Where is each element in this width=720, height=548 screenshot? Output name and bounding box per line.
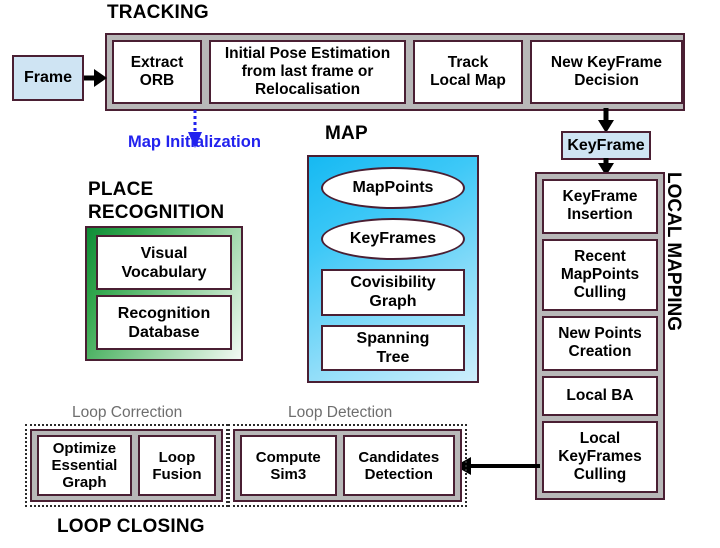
place-recognition-item-visual-vocabulary[interactable]: Visual Vocabulary bbox=[96, 235, 232, 290]
loop-closing-step-compute-sim3[interactable]: Compute Sim3 bbox=[240, 435, 337, 496]
map-section-title: MAP bbox=[325, 122, 368, 145]
frame-input-label: Frame bbox=[24, 69, 72, 87]
loop-closing-step-optimize-essential-graph[interactable]: Optimize Essential Graph bbox=[37, 435, 132, 496]
place-recognition-module: Visual Vocabulary Recognition Database bbox=[85, 226, 243, 361]
local-mapping-section-title: LOCAL MAPPING bbox=[660, 172, 684, 392]
arrow-local-mapping-to-loop-closing-icon bbox=[455, 455, 540, 477]
local-mapping-step-new-points-creation[interactable]: New Points Creation bbox=[542, 316, 658, 371]
place-recognition-section-title: PLACE RECOGNITION bbox=[88, 178, 224, 224]
tracking-module: Extract ORB Initial Pose Estimation from… bbox=[105, 33, 685, 111]
frame-input-box: Frame bbox=[12, 55, 84, 101]
local-mapping-step-keyframe-insertion[interactable]: KeyFrame Insertion bbox=[542, 179, 658, 234]
keyframe-data-label: KeyFrame bbox=[567, 137, 644, 155]
local-mapping-step-recent-mappoints-culling[interactable]: Recent MapPoints Culling bbox=[542, 239, 658, 312]
orb-slam-architecture-diagram: TRACKING Frame Extract ORB Initial Pose … bbox=[0, 0, 720, 548]
arrow-frame-to-tracking-icon bbox=[84, 66, 108, 90]
place-recognition-item-recognition-database[interactable]: Recognition Database bbox=[96, 295, 232, 350]
tracking-step-track-local-map[interactable]: Track Local Map bbox=[413, 40, 523, 104]
keyframe-data-box: KeyFrame bbox=[561, 131, 651, 160]
tracking-step-extract-orb[interactable]: Extract ORB bbox=[112, 40, 202, 104]
local-mapping-module: KeyFrame Insertion Recent MapPoints Cull… bbox=[535, 172, 665, 500]
local-mapping-step-local-keyframes-culling[interactable]: Local KeyFrames Culling bbox=[542, 421, 658, 494]
map-entity-spanning-tree[interactable]: Spanning Tree bbox=[321, 325, 465, 372]
map-entity-mappoints[interactable]: MapPoints bbox=[321, 167, 465, 209]
loop-detection-module: Compute Sim3 Candidates Detection bbox=[233, 429, 462, 502]
loop-closing-section-title: LOOP CLOSING bbox=[57, 515, 205, 538]
tracking-step-initial-pose-estimation[interactable]: Initial Pose Estimation from last frame … bbox=[209, 40, 406, 104]
tracking-step-new-keyframe-decision[interactable]: New KeyFrame Decision bbox=[530, 40, 683, 104]
loop-detection-group-label: Loop Detection bbox=[288, 404, 392, 422]
loop-correction-module: Optimize Essential Graph Loop Fusion bbox=[30, 429, 223, 502]
map-module: MapPoints KeyFrames Covisibility Graph S… bbox=[307, 155, 479, 383]
map-entity-covisibility-graph[interactable]: Covisibility Graph bbox=[321, 269, 465, 316]
tracking-section-title: TRACKING bbox=[107, 1, 209, 24]
map-entity-keyframes[interactable]: KeyFrames bbox=[321, 218, 465, 260]
loop-closing-step-loop-fusion[interactable]: Loop Fusion bbox=[138, 435, 216, 496]
local-mapping-step-local-ba[interactable]: Local BA bbox=[542, 376, 658, 416]
map-initialization-label: Map Initialization bbox=[128, 133, 261, 152]
loop-closing-step-candidates-detection[interactable]: Candidates Detection bbox=[343, 435, 455, 496]
loop-correction-group-label: Loop Correction bbox=[72, 404, 182, 422]
